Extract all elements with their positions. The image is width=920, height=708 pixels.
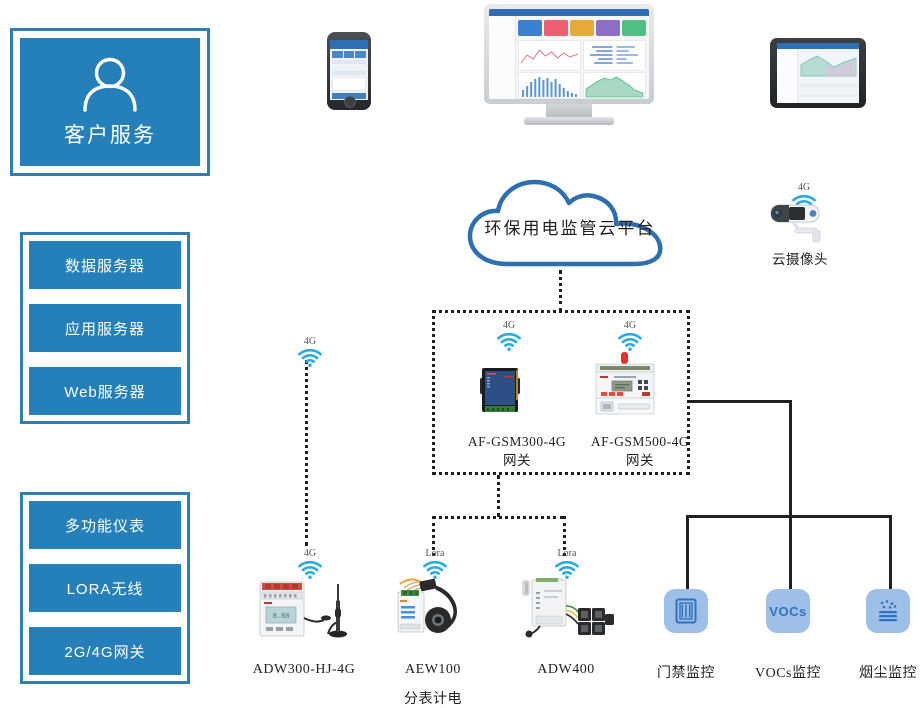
wifi-badge-adw300-top: 4G (288, 336, 332, 367)
smoke-dust-icon (876, 599, 900, 623)
vocs-icon: VOCs (769, 604, 806, 619)
gateway-gsm300-image (472, 364, 528, 418)
connector-monitor-bus-top (688, 400, 792, 403)
cloud-platform-label: 环保用电监管云平台 (462, 214, 678, 239)
server-item-application[interactable]: 应用服务器 (29, 304, 181, 352)
server-item-web-label: Web服务器 (64, 381, 146, 402)
access-control-icon (675, 598, 697, 624)
wifi-badge-gsm300: 4G (487, 320, 531, 351)
wifi-icon (297, 348, 323, 367)
cloud-camera (765, 200, 835, 246)
gateway-gsm500-image (592, 352, 658, 418)
connector-to-vocs (789, 515, 792, 589)
gateway-gsm500-model: AF-GSM500-4G (570, 432, 710, 451)
server-item-data[interactable]: 数据服务器 (29, 241, 181, 289)
monitor-bezel (484, 4, 654, 104)
adw300-icon: 8.88 (258, 578, 350, 640)
device-item-lora-label: LORA无线 (67, 578, 144, 599)
user-icon (79, 56, 141, 117)
wifi-badge-adw300: 4G (288, 548, 332, 579)
wifi-icon (496, 332, 522, 351)
device-item-gateway[interactable]: 2G/4G网关 (29, 627, 181, 675)
monitoring-label-access-control: 门禁监控 (636, 662, 736, 682)
device-adw400-label: ADW400 (516, 662, 616, 678)
device-item-multifunction-meter-label: 多功能仪表 (65, 515, 145, 536)
tablet (770, 38, 866, 108)
server-panel: 数据服务器 应用服务器 Web服务器 (20, 232, 190, 424)
wifi-badge-gsm500: 4G (608, 320, 652, 351)
phone-home-button (344, 96, 356, 108)
wifi-badge-adw300-top-label: 4G (288, 336, 332, 347)
connector-cloud-to-gateways (559, 270, 562, 312)
aew100-icon (392, 574, 474, 640)
monitoring-tile-access-control[interactable] (664, 589, 708, 633)
connector-to-smoke (889, 515, 892, 589)
wifi-icon (297, 560, 323, 579)
adw400-icon (518, 576, 616, 640)
server-item-web[interactable]: Web服务器 (29, 367, 181, 415)
device-adw300-label: ADW300-HJ-4G (234, 662, 374, 678)
monitoring-label-vocs: VOCs监控 (738, 662, 838, 682)
desktop-monitor (484, 4, 654, 128)
device-adw300-image: 8.88 (258, 578, 350, 640)
wifi-badge-adw400: Lora (545, 548, 589, 579)
server-panel-inner: 数据服务器 应用服务器 Web服务器 (29, 241, 181, 415)
server-item-application-label: 应用服务器 (65, 318, 145, 339)
connector-monitor-trunk (789, 400, 792, 516)
cloud-platform: 环保用电监管云平台 (462, 176, 678, 272)
wifi-badge-gsm500-label: 4G (608, 320, 652, 331)
camera-icon (765, 200, 835, 246)
gsm300-icon (472, 364, 528, 418)
device-item-multifunction-meter[interactable]: 多功能仪表 (29, 501, 181, 549)
device-aew100-label: AEW100 (383, 662, 483, 678)
gateway-gsm300-type: 网关 (447, 451, 587, 470)
wifi-badge-camera-label: 4G (782, 182, 826, 193)
monitor-screen (489, 9, 649, 99)
connector-to-access-control (686, 515, 689, 589)
smartphone-screen (330, 40, 368, 100)
field-devices-group-label: 分表计电 (383, 688, 483, 708)
connector-adw300-4g (305, 360, 308, 546)
customer-service-label: 客户服务 (64, 119, 156, 149)
device-item-gateway-label: 2G/4G网关 (64, 641, 145, 662)
monitoring-tile-vocs[interactable]: VOCs (766, 589, 810, 633)
wifi-badge-gsm300-label: 4G (487, 320, 531, 331)
gsm500-icon (592, 352, 658, 418)
wifi-badge-adw400-label: Lora (545, 548, 589, 559)
monitor-stand (546, 104, 592, 118)
wifi-icon (617, 332, 643, 351)
device-panel-inner: 多功能仪表 LORA无线 2G/4G网关 (29, 501, 181, 675)
device-adw400-image (518, 576, 616, 640)
monitoring-label-smoke: 烟尘监控 (838, 662, 920, 682)
connector-bottom-bus (432, 516, 564, 519)
camera-label: 云摄像头 (750, 250, 850, 269)
smartphone (327, 32, 371, 110)
monitoring-tile-smoke[interactable] (866, 589, 910, 633)
wifi-badge-adw300-label: 4G (288, 548, 332, 559)
customer-service-panel: 客户服务 (10, 28, 210, 176)
device-aew100-image (392, 574, 474, 640)
wifi-badge-aew100-label: Lora (413, 548, 457, 559)
gateway-gsm500-caption: AF-GSM500-4G 网关 (570, 432, 710, 470)
gateway-gsm300-model: AF-GSM300-4G (447, 432, 587, 451)
device-panel: 多功能仪表 LORA无线 2G/4G网关 (20, 492, 190, 684)
tablet-screen (777, 43, 859, 103)
gateway-gsm300-caption: AF-GSM300-4G 网关 (447, 432, 587, 470)
monitor-base (524, 117, 614, 125)
svg-text:8.88: 8.88 (273, 613, 290, 621)
server-item-data-label: 数据服务器 (65, 255, 145, 276)
gateway-gsm500-type: 网关 (570, 451, 710, 470)
device-item-lora[interactable]: LORA无线 (29, 564, 181, 612)
connector-gateway-down (497, 475, 500, 517)
customer-service-fill: 客户服务 (20, 38, 200, 166)
